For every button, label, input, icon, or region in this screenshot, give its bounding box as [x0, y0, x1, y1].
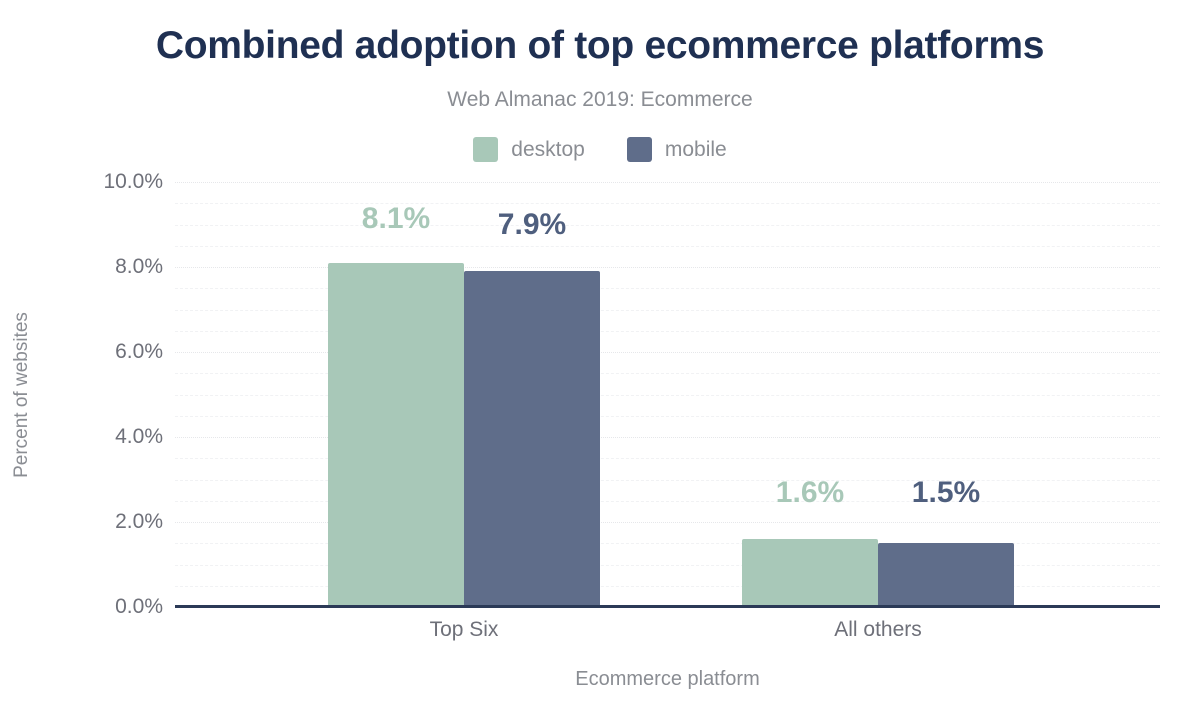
y-axis-tick-10-0pct: 10.0% — [8, 170, 163, 194]
value-label-top-six-mobile: 7.9% — [498, 208, 566, 242]
chart-container: Combined adoption of top ecommerce platf… — [0, 0, 1200, 722]
y-axis-tick-0-0pct: 0.0% — [8, 595, 163, 619]
gridline-major — [175, 352, 1160, 354]
value-label-top-six-desktop: 8.1% — [362, 202, 430, 236]
y-axis-tick-8-0pct: 8.0% — [8, 255, 163, 279]
bar-all-others-desktop[interactable] — [742, 539, 878, 607]
gridline-major — [175, 522, 1160, 524]
gridline-minor — [175, 203, 1160, 205]
legend-label-mobile: mobile — [665, 138, 727, 162]
bar-top-six-desktop[interactable] — [328, 263, 464, 607]
gridline-major — [175, 182, 1160, 184]
gridline-minor — [175, 373, 1160, 375]
gridline-major — [175, 267, 1160, 269]
gridline-major — [175, 437, 1160, 439]
x-category-label-all-others: All others — [834, 618, 922, 642]
chart-legend: desktop mobile — [0, 137, 1200, 162]
gridline-minor — [175, 416, 1160, 418]
legend-swatch-mobile — [627, 137, 652, 162]
gridline-minor — [175, 288, 1160, 290]
x-category-label-top-six: Top Six — [430, 618, 499, 642]
y-axis-tick-2-0pct: 2.0% — [8, 510, 163, 534]
gridline-minor — [175, 501, 1160, 503]
gridline-minor — [175, 225, 1160, 227]
value-label-all-others-mobile: 1.5% — [912, 476, 980, 510]
legend-swatch-desktop — [473, 137, 498, 162]
plot-area — [175, 182, 1160, 607]
bar-all-others-mobile[interactable] — [878, 543, 1014, 607]
gridline-minor — [175, 458, 1160, 460]
x-axis-line — [175, 605, 1160, 608]
bar-top-six-mobile[interactable] — [464, 271, 600, 607]
value-label-all-others-desktop: 1.6% — [776, 476, 844, 510]
chart-title: Combined adoption of top ecommerce platf… — [0, 24, 1200, 68]
x-axis-title: Ecommerce platform — [175, 668, 1160, 691]
legend-label-desktop: desktop — [511, 138, 585, 162]
gridline-minor — [175, 331, 1160, 333]
gridline-minor — [175, 395, 1160, 397]
legend-item-desktop[interactable]: desktop — [473, 137, 585, 162]
gridline-minor — [175, 310, 1160, 312]
legend-item-mobile[interactable]: mobile — [627, 137, 727, 162]
y-axis-title: Percent of websites — [11, 312, 33, 478]
gridline-minor — [175, 246, 1160, 248]
gridline-minor — [175, 480, 1160, 482]
chart-subtitle: Web Almanac 2019: Ecommerce — [0, 88, 1200, 112]
